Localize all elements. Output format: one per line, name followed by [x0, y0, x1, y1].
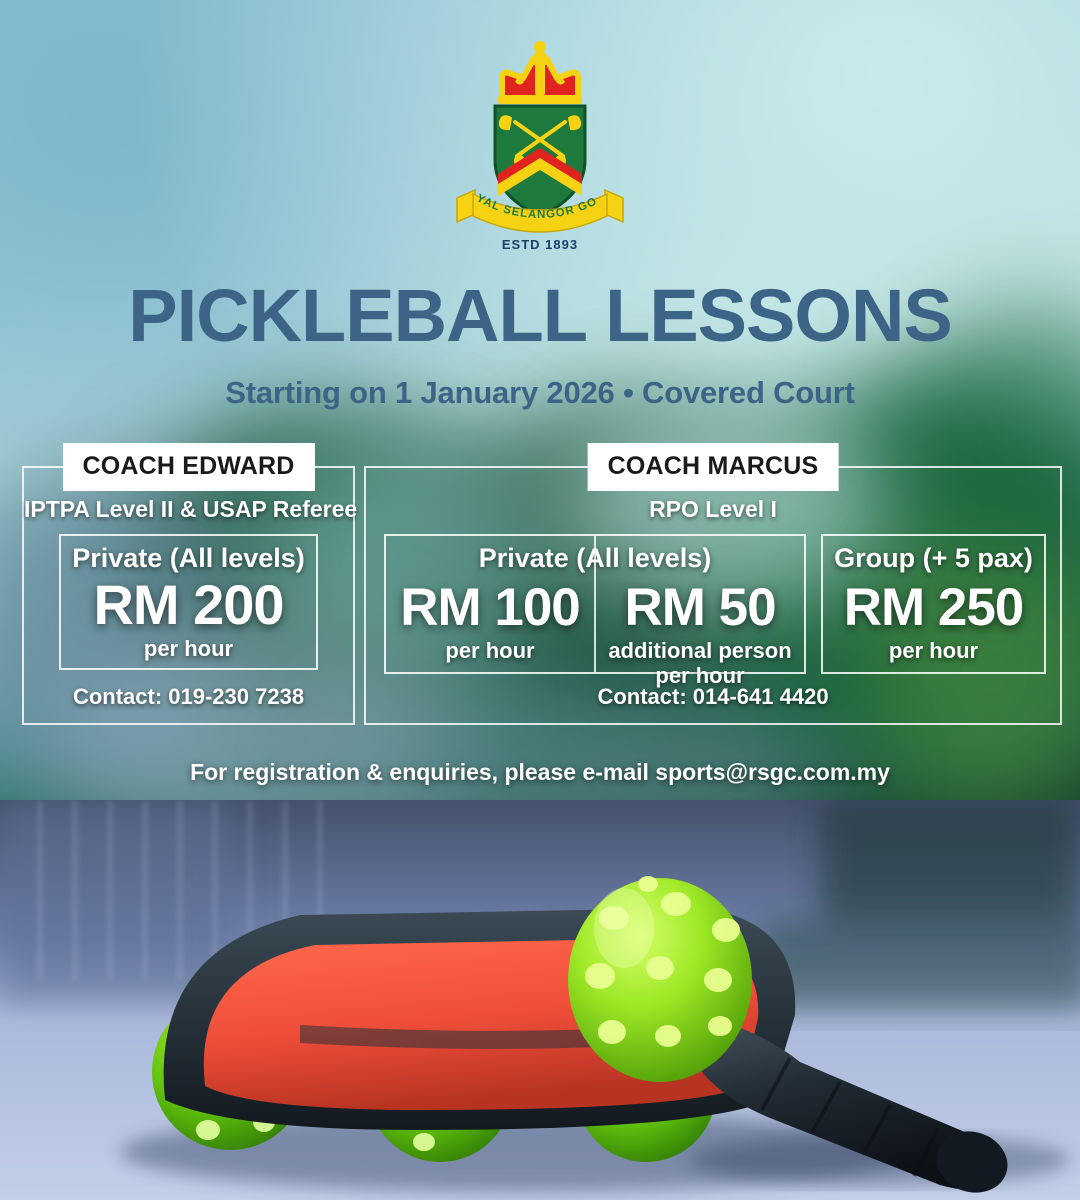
- price-amount: RM 250: [844, 580, 1024, 636]
- coach-name-badge: COACH EDWARD: [62, 443, 314, 491]
- shield-icon: [495, 106, 585, 216]
- registration-line[interactable]: For registration & enquiries, please e-m…: [0, 759, 1080, 785]
- price-amount: RM 100: [400, 580, 580, 636]
- price-box-private: Private (All levels) RM 200 per hour: [59, 534, 318, 670]
- price-cell: RM 250 per hour: [823, 536, 1044, 672]
- coach-contact[interactable]: Contact: 014-641 4420: [366, 685, 1060, 709]
- price-box-group: Group (+ 5 pax) RM 250 per hour: [821, 534, 1046, 674]
- pickleball-photo: [0, 800, 1080, 1200]
- price-amount: RM 50: [624, 580, 775, 636]
- price-amount: RM 200: [93, 576, 283, 634]
- price-box-private: Private (All levels) RM 100 per hour RM …: [384, 534, 806, 674]
- coach-panel-marcus: COACH MARCUS RPO Level I Private (All le…: [364, 466, 1062, 725]
- coach-certification: RPO Level I: [366, 496, 1060, 522]
- price-unit: per hour: [144, 636, 233, 661]
- page-subtitle: Starting on 1 January 2026 • Covered Cou…: [0, 376, 1080, 410]
- price-unit: per hour: [445, 638, 534, 663]
- crown-icon: [498, 41, 582, 104]
- price-cell: RM 200 per hour: [61, 536, 316, 668]
- coach-panel-edward: COACH EDWARD IPTPA Level II & USAP Refer…: [22, 466, 355, 725]
- established-text: ESTD 1893: [502, 237, 578, 252]
- coach-contact[interactable]: Contact: 019-230 7238: [24, 685, 353, 709]
- coach-certification: IPTPA Level II & USAP Referee: [24, 496, 353, 522]
- price-unit: per hour: [889, 638, 978, 663]
- price-unit: additional personper hour: [608, 638, 791, 688]
- price-cell: RM 100 per hour: [386, 536, 594, 672]
- club-crest: THE ROYAL SELANGOR GOLF CLUB ESTD 1893: [0, 38, 1080, 253]
- coach-name-badge: COACH MARCUS: [588, 443, 839, 491]
- page-title: PICKLEBALL LESSONS: [0, 279, 1080, 353]
- price-cell: RM 50 additional personper hour: [594, 536, 804, 672]
- poster-canvas: THE ROYAL SELANGOR GOLF CLUB ESTD 1893 P…: [0, 0, 1080, 1200]
